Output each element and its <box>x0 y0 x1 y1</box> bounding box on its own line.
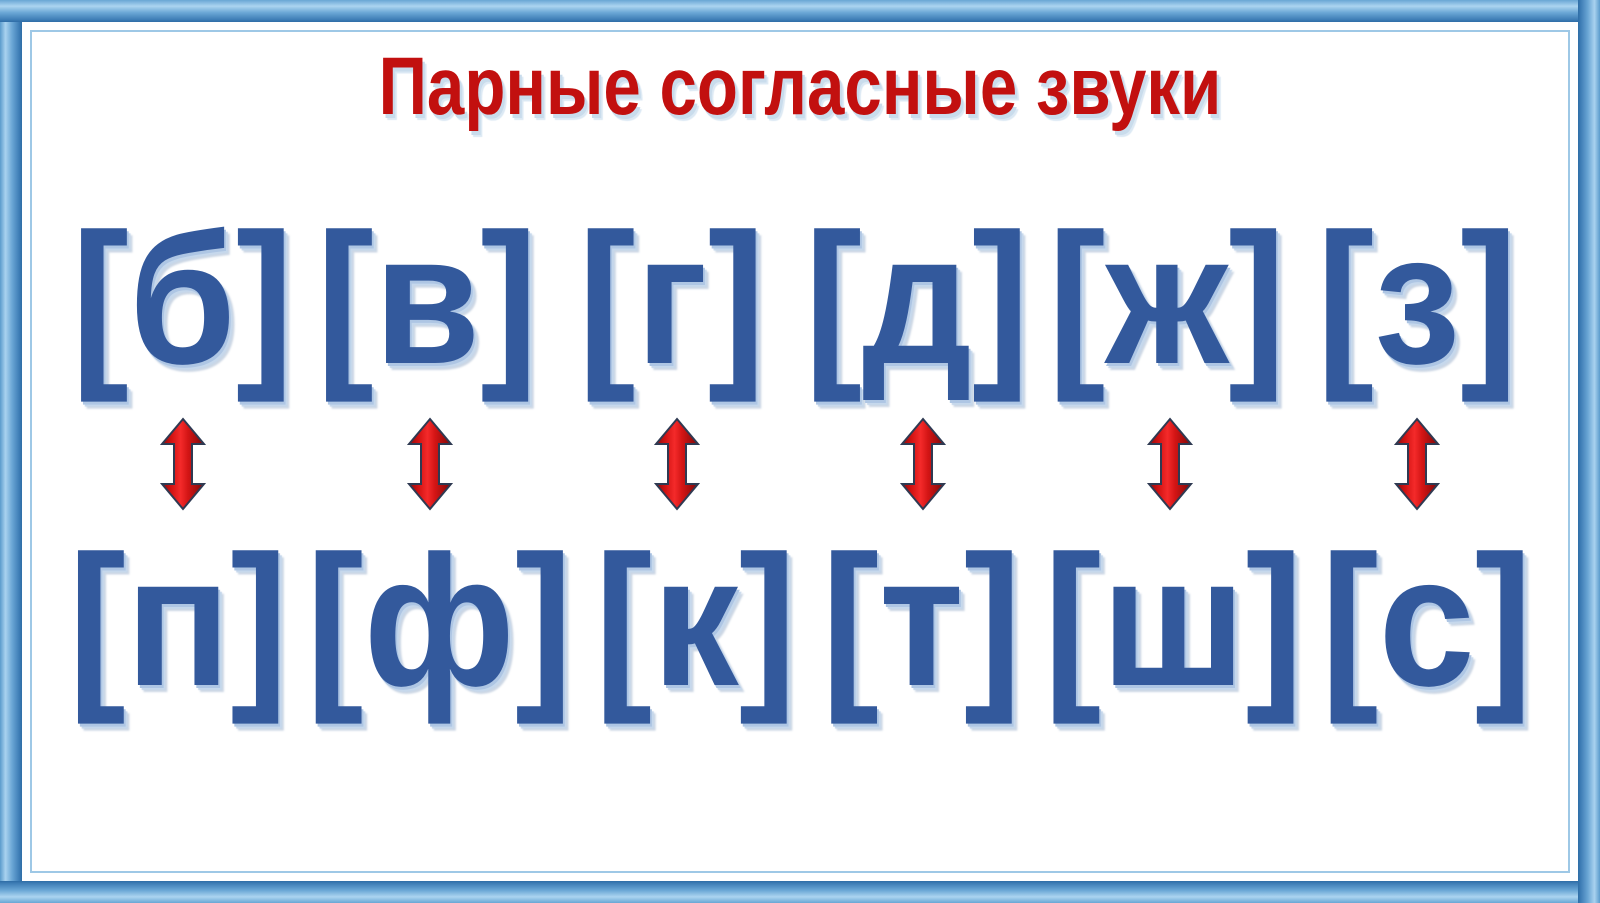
phoneme-voiceless: [с] <box>1321 529 1532 715</box>
slide-content-area: Парные согласные звуки [б] [в] [г] [д] [… <box>32 32 1568 871</box>
arrow-cell <box>307 417 554 511</box>
pair-arrow-row <box>60 414 1540 514</box>
phoneme-cell: [в] <box>305 207 550 393</box>
double-arrow-vertical-icon <box>1147 417 1193 511</box>
phoneme-voiced: [д] <box>804 207 1029 393</box>
slide-canvas: Парные согласные звуки [б] [в] [г] [д] [… <box>0 0 1600 903</box>
phoneme-cell: [д] <box>795 207 1040 393</box>
double-arrow-vertical-icon <box>160 417 206 511</box>
phoneme-voiceless: [ш] <box>1044 529 1303 715</box>
voiceless-consonant-row: [п] [ф] [к] [т] [ш] [с] <box>60 522 1540 722</box>
phoneme-cell: [з] <box>1295 207 1540 393</box>
phoneme-voiced: [ж] <box>1048 207 1286 393</box>
double-arrow-vertical-icon <box>900 417 946 511</box>
arrow-cell <box>553 417 800 511</box>
arrow-cell <box>800 417 1047 511</box>
phoneme-voiceless: [ф] <box>306 529 573 715</box>
phoneme-voiced: [б] <box>71 207 293 393</box>
phoneme-voiceless: [к] <box>595 529 797 715</box>
phoneme-cell: [ф] <box>296 529 583 715</box>
page-title: Парные согласные звуки <box>170 46 1430 128</box>
phoneme-cell: [б] <box>60 207 305 393</box>
phoneme-voiceless: [п] <box>68 529 288 715</box>
double-arrow-vertical-icon <box>654 417 700 511</box>
phoneme-cell: [т] <box>808 529 1033 715</box>
phoneme-cell: [ж] <box>1039 207 1295 393</box>
phoneme-cell: [г] <box>550 207 795 393</box>
phoneme-cell: [к] <box>583 529 808 715</box>
double-arrow-vertical-icon <box>1394 417 1440 511</box>
phoneme-cell: [п] <box>60 529 296 715</box>
phoneme-cell: [ш] <box>1034 529 1313 715</box>
phoneme-cell: [с] <box>1313 529 1540 715</box>
phoneme-voiced: [в] <box>316 207 538 393</box>
arrow-cell <box>1047 417 1294 511</box>
phoneme-voiced: [з] <box>1317 207 1518 393</box>
slide-border-bottom <box>0 881 1600 903</box>
arrow-cell <box>1293 417 1540 511</box>
double-arrow-vertical-icon <box>407 417 453 511</box>
slide-border-top <box>0 0 1600 22</box>
phoneme-voiced: [г] <box>578 207 765 393</box>
voiced-consonant-row: [б] [в] [г] [д] [ж] [з] <box>60 200 1540 400</box>
arrow-cell <box>60 417 307 511</box>
phoneme-voiceless: [т] <box>821 529 1021 715</box>
